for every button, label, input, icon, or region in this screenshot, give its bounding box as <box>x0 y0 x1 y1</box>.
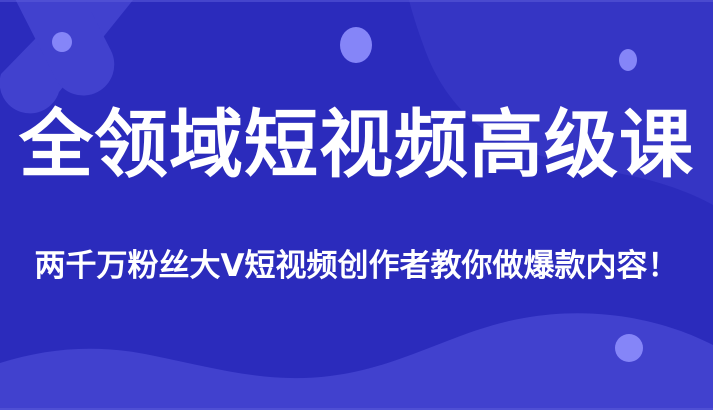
banner-content: 全领域短视频高级课 两千万粉丝大V短视频创作者教你做爆款内容！ <box>0 0 713 410</box>
banner-title: 全领域短视频高级课 <box>0 103 713 187</box>
course-promo-banner: 全领域短视频高级课 两千万粉丝大V短视频创作者教你做爆款内容！ <box>0 0 713 410</box>
banner-subtitle: 两千万粉丝大V短视频创作者教你做爆款内容！ <box>0 244 713 288</box>
